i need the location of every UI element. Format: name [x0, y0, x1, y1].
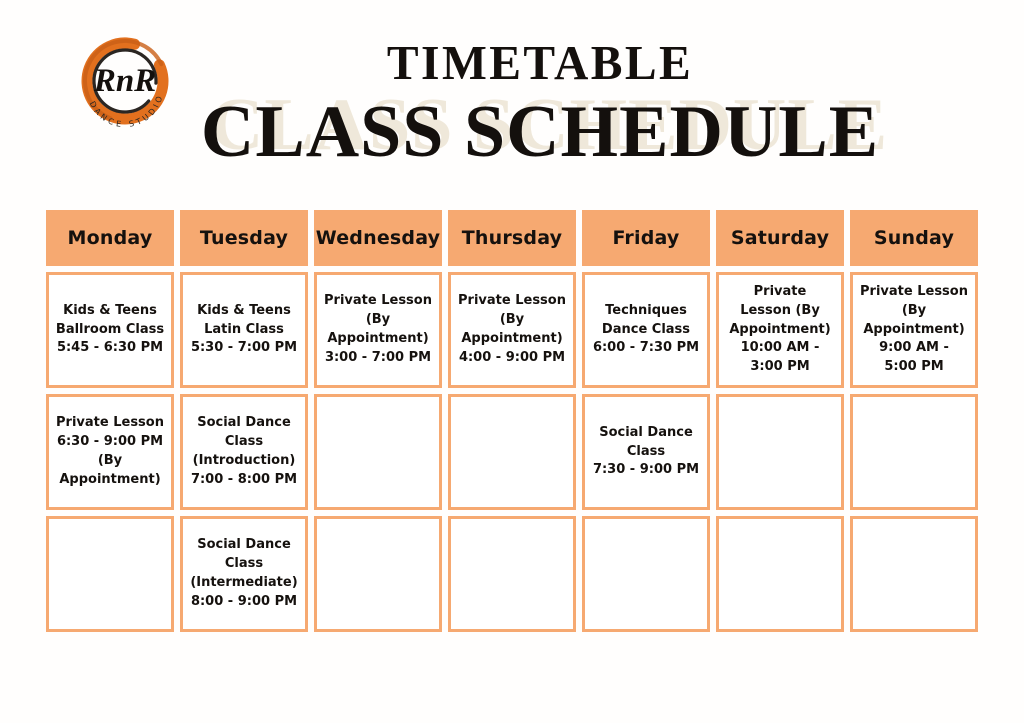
- day-header-thursday: Thursday: [448, 210, 576, 266]
- class-cell-text: Kids & Teens Ballroom Class 5:45 - 6:30 …: [56, 302, 164, 359]
- class-cell[interactable]: Private Lesson (By Appointment) 9:00 AM …: [850, 272, 978, 388]
- class-cell[interactable]: Private Lesson (By Appointment) 4:00 - 9…: [448, 272, 576, 388]
- class-cell-empty[interactable]: [46, 516, 174, 632]
- class-cell-text: Private Lesson (By Appointment) 4:00 - 9…: [456, 292, 568, 367]
- day-header-monday: Monday: [46, 210, 174, 266]
- class-cell-empty[interactable]: [448, 516, 576, 632]
- class-cell[interactable]: Social Dance Class (Intermediate) 8:00 -…: [180, 516, 308, 632]
- rnr-dance-studio-logo: RnR DANCE STUDIO: [73, 31, 178, 136]
- class-cell-empty[interactable]: [716, 394, 844, 510]
- class-cell-empty[interactable]: [716, 516, 844, 632]
- class-cell-text: Kids & Teens Latin Class 5:30 - 7:00 PM: [191, 302, 297, 359]
- title-block: TIMETABLE CLASS SCHEDULE CLASS SCHEDULE: [190, 38, 890, 171]
- class-cell[interactable]: Private Lesson (By Appointment) 10:00 AM…: [716, 272, 844, 388]
- class-cell[interactable]: Kids & Teens Ballroom Class 5:45 - 6:30 …: [46, 272, 174, 388]
- timetable-poster: RnR DANCE STUDIO TIMETABLE CLASS SCHEDUL…: [0, 0, 1024, 723]
- class-cell[interactable]: Techniques Dance Class 6:00 - 7:30 PM: [582, 272, 710, 388]
- class-cell[interactable]: Social Dance Class (Introduction) 7:00 -…: [180, 394, 308, 510]
- logo-wordmark: RnR: [93, 63, 156, 99]
- class-cell-text: Private Lesson (By Appointment) 9:00 AM …: [860, 283, 968, 377]
- page-title: CLASS SCHEDULE: [190, 95, 890, 169]
- class-cell-text: Social Dance Class 7:30 - 9:00 PM: [593, 424, 699, 481]
- class-cell-text: Techniques Dance Class 6:00 - 7:30 PM: [593, 302, 699, 359]
- day-header-sunday: Sunday: [850, 210, 978, 266]
- day-header-tuesday: Tuesday: [180, 210, 308, 266]
- page-title-wrap: CLASS SCHEDULE CLASS SCHEDULE: [190, 95, 890, 171]
- class-cell-text: Private Lesson (By Appointment) 3:00 - 7…: [324, 292, 432, 367]
- class-cell-empty[interactable]: [314, 516, 442, 632]
- class-cell[interactable]: Private Lesson 6:30 - 9:00 PM (By Appoin…: [46, 394, 174, 510]
- class-cell-empty[interactable]: [448, 394, 576, 510]
- timetable-grid: Monday Tuesday Wednesday Thursday Friday…: [46, 210, 978, 632]
- class-cell[interactable]: Social Dance Class 7:30 - 9:00 PM: [582, 394, 710, 510]
- class-cell-text: Private Lesson (By Appointment) 10:00 AM…: [729, 283, 830, 377]
- class-cell-text: Social Dance Class (Intermediate) 8:00 -…: [190, 536, 297, 611]
- class-cell-empty[interactable]: [850, 516, 978, 632]
- day-header-friday: Friday: [582, 210, 710, 266]
- kicker-timetable: TIMETABLE: [201, 38, 880, 87]
- class-cell[interactable]: Private Lesson (By Appointment) 3:00 - 7…: [314, 272, 442, 388]
- class-cell-text: Private Lesson 6:30 - 9:00 PM (By Appoin…: [56, 414, 164, 489]
- class-cell[interactable]: Kids & Teens Latin Class 5:30 - 7:00 PM: [180, 272, 308, 388]
- class-cell-text: Social Dance Class (Introduction) 7:00 -…: [191, 414, 297, 489]
- day-header-wednesday: Wednesday: [314, 210, 442, 266]
- poster-header: RnR DANCE STUDIO TIMETABLE CLASS SCHEDUL…: [0, 0, 1024, 200]
- class-cell-empty[interactable]: [314, 394, 442, 510]
- day-header-saturday: Saturday: [716, 210, 844, 266]
- class-cell-empty[interactable]: [582, 516, 710, 632]
- class-cell-empty[interactable]: [850, 394, 978, 510]
